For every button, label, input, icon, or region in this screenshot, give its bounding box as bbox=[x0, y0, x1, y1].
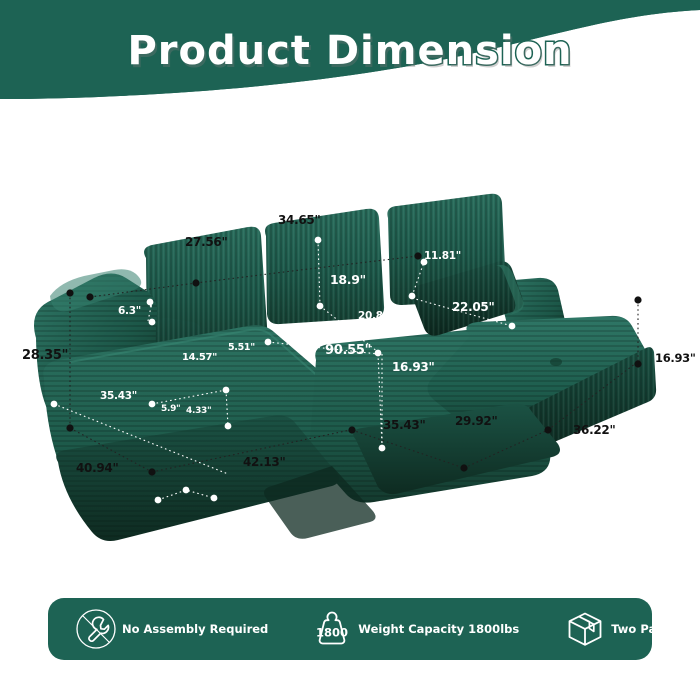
no-wrench-icon bbox=[74, 607, 118, 651]
dimension-label-foot-gap-a: 5.9" bbox=[161, 404, 180, 414]
dimension-label-ottoman-width: 36.22" bbox=[573, 423, 615, 437]
weight-badge-value: 1800 bbox=[316, 626, 348, 640]
dimension-label-arm-pillow-height: 11.81" bbox=[424, 250, 461, 262]
product-dimension-infographic: Product Dimension bbox=[0, 0, 700, 700]
dimension-label-chaise-width: 29.92" bbox=[455, 414, 497, 428]
dimension-label-chaise-depth: 35.43" bbox=[383, 418, 425, 432]
dimension-label-seat-width-small: 5.51" bbox=[228, 342, 255, 353]
feature-no-assembly: No Assembly Required bbox=[74, 598, 268, 660]
page-title: Product Dimension bbox=[0, 28, 700, 74]
dimension-label-base-depth-left: 40.94" bbox=[76, 461, 118, 475]
dimension-label-seat-height-right: 16.93" bbox=[655, 351, 696, 365]
header-banner: Product Dimension bbox=[0, 0, 700, 110]
feature-label-weight-capacity: Weight Capacity 1800lbs bbox=[358, 622, 519, 636]
feature-bar: No Assembly Required 1800 Weight Capacit… bbox=[48, 598, 652, 660]
dimension-label-base-width-front: 42.13" bbox=[243, 455, 285, 469]
dimension-label-arm-outer-depth: 35.43" bbox=[100, 390, 137, 402]
dimension-label-seat-depth-diag: 20.87" bbox=[358, 310, 395, 322]
dimension-label-total-height: 28.35" bbox=[22, 348, 68, 363]
dimension-label-back-left-top: 27.56" bbox=[185, 235, 227, 249]
feature-label-two-packages: Two Packages bbox=[611, 622, 700, 636]
feature-weight-capacity: 1800 Weight Capacity 1800lbs bbox=[310, 598, 519, 660]
dimension-label-back-height: 18.9" bbox=[330, 272, 366, 287]
weight-icon: 1800 bbox=[310, 607, 354, 651]
feature-two-packages: Two Packages bbox=[563, 598, 700, 660]
dimension-label-seat-height-mid: 16.93" bbox=[392, 360, 434, 374]
dimension-label-arm-pillow-width: 22.05" bbox=[452, 300, 494, 314]
dimension-label-arm-height-left: 6.3" bbox=[118, 305, 141, 317]
dimension-label-overall-length: 90.55" bbox=[325, 343, 371, 358]
dimension-label-arm-width: 14.57" bbox=[182, 352, 217, 363]
box-icon bbox=[563, 607, 607, 651]
dimension-label-foot-gap-b: 4.33" bbox=[186, 406, 211, 416]
feature-label-no-assembly: No Assembly Required bbox=[122, 622, 268, 636]
dimension-label-back-right-top: 34.65" bbox=[278, 213, 320, 227]
